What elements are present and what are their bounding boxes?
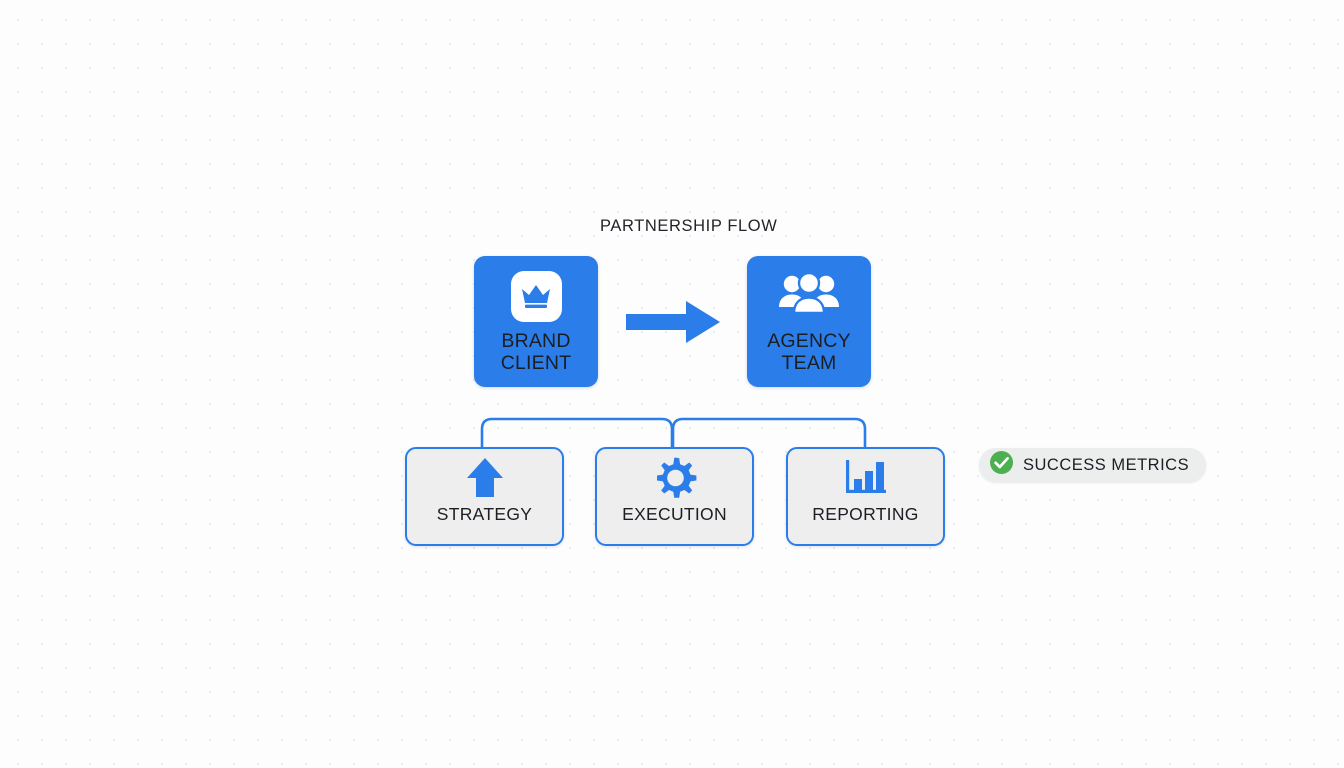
status-badge-success-metrics[interactable]: SUCCESS METRICS — [979, 448, 1206, 482]
node-label-brand-client: BRAND CLIENT — [501, 331, 572, 375]
card-strategy[interactable]: STRATEGY — [405, 447, 564, 546]
card-label-execution: EXECUTION — [622, 504, 727, 525]
node-label-agency-team: AGENCY TEAM — [767, 331, 851, 375]
crown-icon — [511, 271, 562, 322]
node-icon-wrap — [778, 265, 840, 327]
status-badge-label: SUCCESS METRICS — [1023, 456, 1189, 475]
diagram-title: PARTNERSHIP FLOW — [600, 217, 777, 236]
up-arrow-icon — [464, 456, 506, 505]
bar-chart-icon — [842, 456, 890, 505]
right-arrow-icon — [623, 296, 723, 353]
card-icon-wrap — [464, 456, 506, 504]
node-brand-client[interactable]: BRAND CLIENT — [474, 256, 598, 387]
node-label-line1: AGENCY — [767, 330, 851, 352]
card-icon-wrap — [842, 456, 890, 504]
gear-icon — [653, 456, 697, 505]
node-label-line2: TEAM — [767, 353, 851, 375]
check-circle-icon — [989, 450, 1014, 480]
diagram-canvas: PARTNERSHIP FLOW BRAND CLIENT — [0, 0, 1344, 768]
people-group-icon — [778, 272, 840, 321]
node-label-line2: CLIENT — [501, 353, 572, 375]
node-agency-team[interactable]: AGENCY TEAM — [747, 256, 871, 387]
node-icon-wrap — [511, 265, 562, 327]
card-label-strategy: STRATEGY — [437, 504, 532, 525]
card-icon-wrap — [653, 456, 697, 504]
node-label-line1: BRAND — [501, 330, 570, 352]
card-reporting[interactable]: REPORTING — [786, 447, 945, 546]
card-label-reporting: REPORTING — [812, 504, 918, 525]
card-execution[interactable]: EXECUTION — [595, 447, 754, 546]
